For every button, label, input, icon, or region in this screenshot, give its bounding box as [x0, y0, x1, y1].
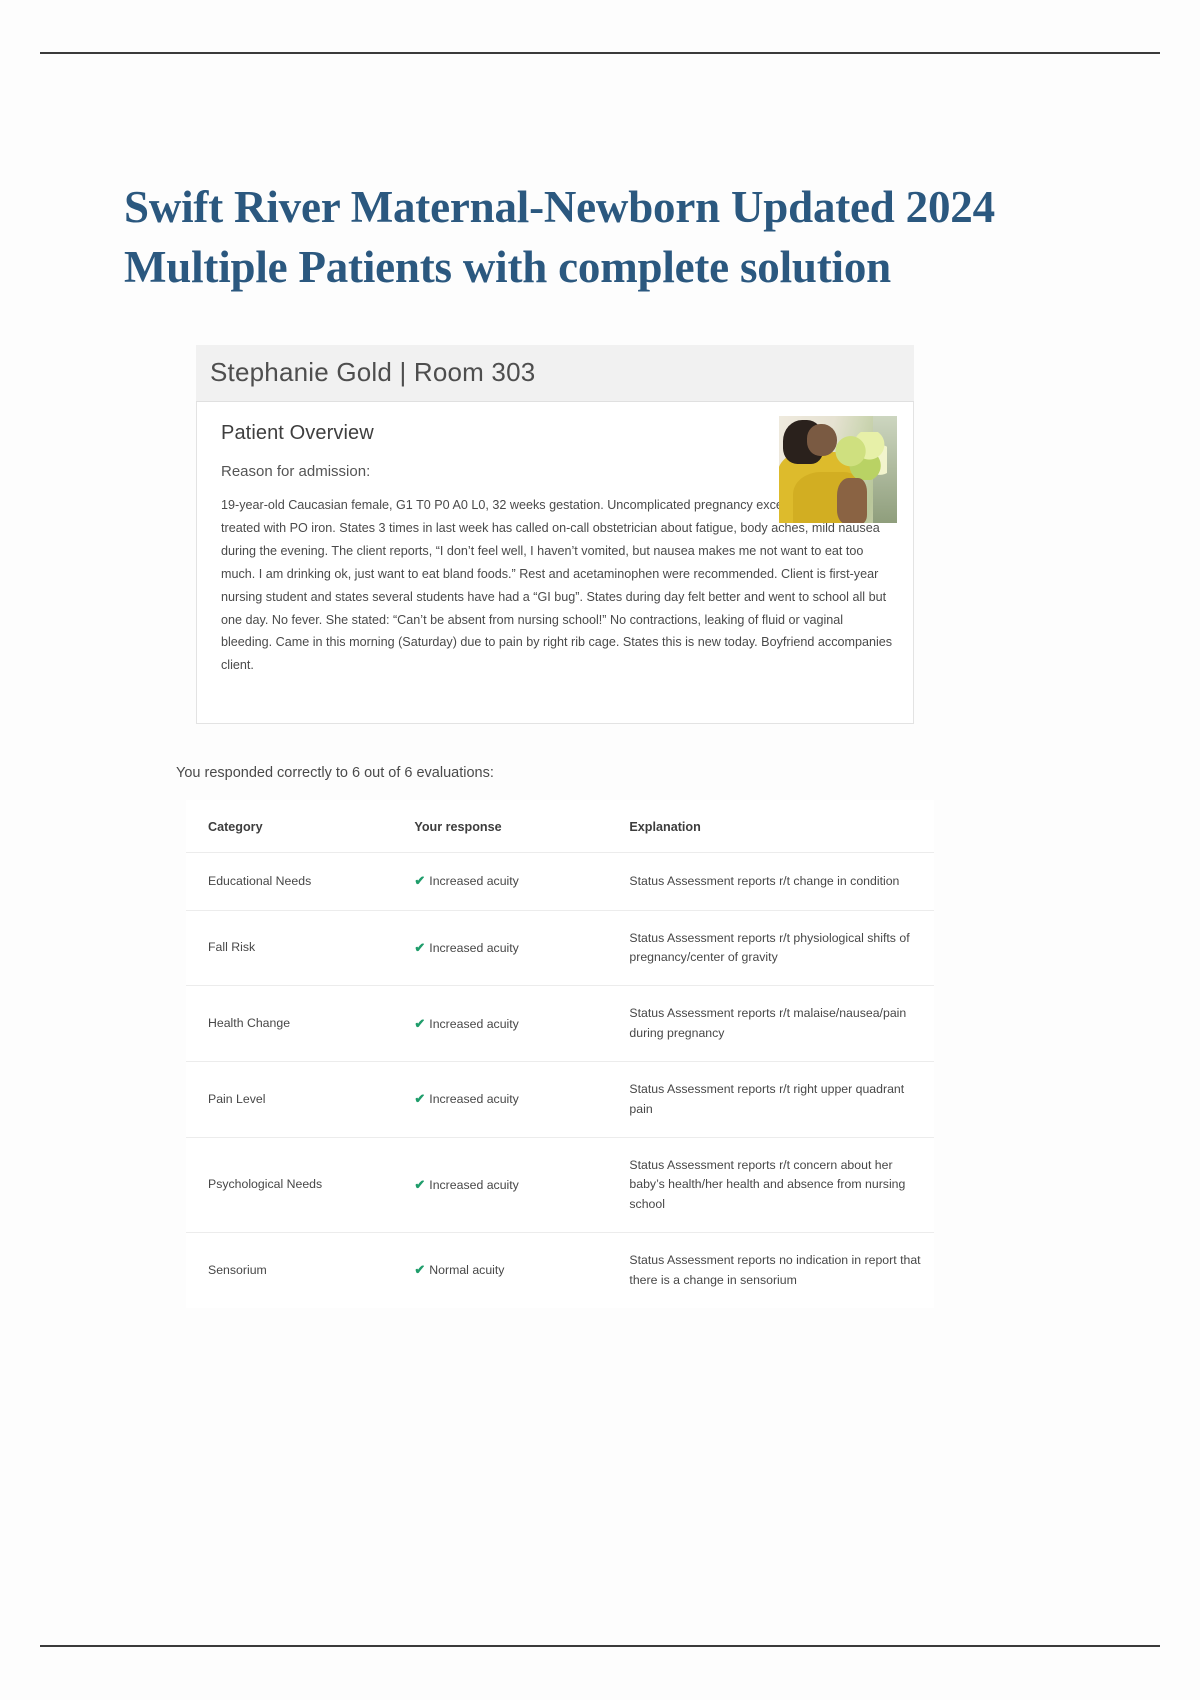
response-label: Increased acuity	[429, 1017, 519, 1031]
cell-explanation: Status Assessment reports r/t physiologi…	[629, 910, 934, 986]
cell-explanation: Status Assessment reports r/t malaise/na…	[629, 986, 934, 1062]
cell-response: ✔Normal acuity	[414, 1233, 629, 1308]
patient-overview-box: Patient Overview Reason for admission: 1…	[196, 402, 914, 724]
check-icon: ✔	[414, 873, 425, 888]
cell-response: ✔Increased acuity	[414, 1062, 629, 1138]
cell-explanation: Status Assessment reports r/t change in …	[629, 853, 934, 911]
evaluations-table-head: Category Your response Explanation	[186, 800, 934, 853]
check-icon: ✔	[414, 1016, 425, 1031]
check-icon: ✔	[414, 1091, 425, 1106]
response-label: Normal acuity	[429, 1263, 504, 1277]
response-label: Increased acuity	[429, 1178, 519, 1192]
table-row: Fall Risk ✔Increased acuity Status Asses…	[186, 910, 934, 986]
cell-response: ✔Increased acuity	[414, 910, 629, 986]
cell-category: Psychological Needs	[186, 1138, 414, 1233]
document-page: Swift River Maternal-Newborn Updated 202…	[0, 0, 1200, 1700]
column-header-explanation: Explanation	[629, 800, 934, 853]
cell-response: ✔Increased acuity	[414, 853, 629, 911]
response-label: Increased acuity	[429, 874, 519, 888]
evaluations-intro: You responded correctly to 6 out of 6 ev…	[176, 765, 494, 781]
patient-header: Stephanie Gold | Room 303	[196, 345, 914, 402]
check-icon: ✔	[414, 1177, 425, 1192]
evaluations-table: Category Your response Explanation Educa…	[186, 800, 934, 1308]
check-icon: ✔	[414, 940, 425, 955]
cell-category: Fall Risk	[186, 910, 414, 986]
cell-category: Sensorium	[186, 1233, 414, 1308]
cell-category: Educational Needs	[186, 853, 414, 911]
cell-explanation: Status Assessment reports r/t right uppe…	[629, 1062, 934, 1138]
table-header-row: Category Your response Explanation	[186, 800, 934, 853]
cell-category: Pain Level	[186, 1062, 414, 1138]
photo-arm	[837, 478, 867, 523]
cell-response: ✔Increased acuity	[414, 986, 629, 1062]
header-rule	[40, 52, 1160, 54]
patient-name-room: Stephanie Gold | Room 303	[210, 357, 535, 387]
response-label: Increased acuity	[429, 941, 519, 955]
table-row: Educational Needs ✔Increased acuity Stat…	[186, 853, 934, 911]
cell-explanation: Status Assessment reports no indication …	[629, 1233, 934, 1308]
page-title: Swift River Maternal-Newborn Updated 202…	[124, 178, 1014, 297]
footer-rule	[40, 1645, 1160, 1647]
photo-face	[807, 424, 837, 456]
table-row: Sensorium ✔Normal acuity Status Assessme…	[186, 1233, 934, 1308]
cell-response: ✔Increased acuity	[414, 1138, 629, 1233]
table-row: Psychological Needs ✔Increased acuity St…	[186, 1138, 934, 1233]
column-header-category: Category	[186, 800, 414, 853]
check-icon: ✔	[414, 1262, 425, 1277]
photo-flowers	[835, 432, 887, 480]
column-header-your-response: Your response	[414, 800, 629, 853]
patient-card: Stephanie Gold | Room 303 Patient Overvi…	[196, 345, 914, 724]
table-row: Health Change ✔Increased acuity Status A…	[186, 986, 934, 1062]
cell-category: Health Change	[186, 986, 414, 1062]
patient-photo	[779, 416, 897, 523]
evaluations-table-body: Educational Needs ✔Increased acuity Stat…	[186, 853, 934, 1309]
cell-explanation: Status Assessment reports r/t concern ab…	[629, 1138, 934, 1233]
response-label: Increased acuity	[429, 1092, 519, 1106]
table-row: Pain Level ✔Increased acuity Status Asse…	[186, 1062, 934, 1138]
